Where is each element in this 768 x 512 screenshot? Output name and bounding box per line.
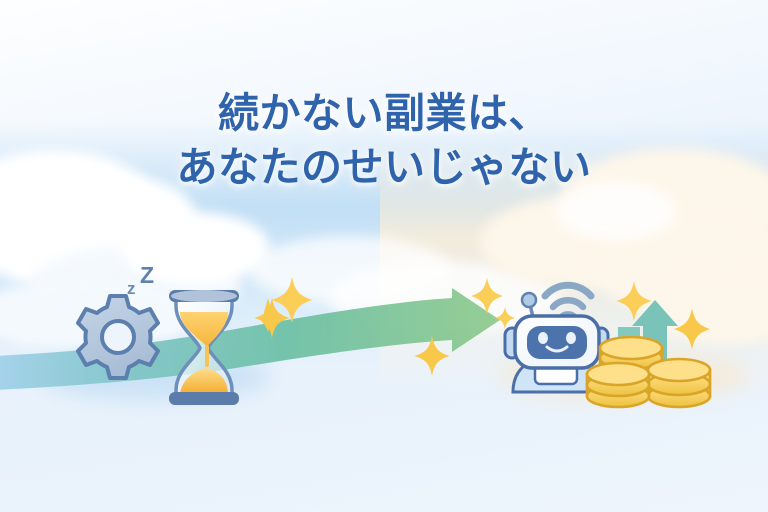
page-title: 続かない副業は、 あなたのせいじゃない xyxy=(0,86,768,194)
illustration-scene: z Z xyxy=(0,0,768,512)
hero-banner: 続かない副業は、 あなたのせいじゃない xyxy=(0,0,768,512)
wifi-icon xyxy=(545,285,591,317)
coin-stack-right xyxy=(648,359,710,407)
progress-arrow xyxy=(0,288,500,390)
sleep-zzz-icon: z Z xyxy=(127,262,154,298)
sparkle-icon xyxy=(495,307,515,329)
svg-text:z: z xyxy=(127,279,136,298)
headline-line-2: あなたのせいじゃない xyxy=(0,140,768,194)
svg-text:Z: Z xyxy=(140,262,154,288)
headline-line-1: 続かない副業は、 xyxy=(0,86,768,140)
sparkle-icon xyxy=(674,308,710,350)
coin-stack-front xyxy=(587,363,649,407)
